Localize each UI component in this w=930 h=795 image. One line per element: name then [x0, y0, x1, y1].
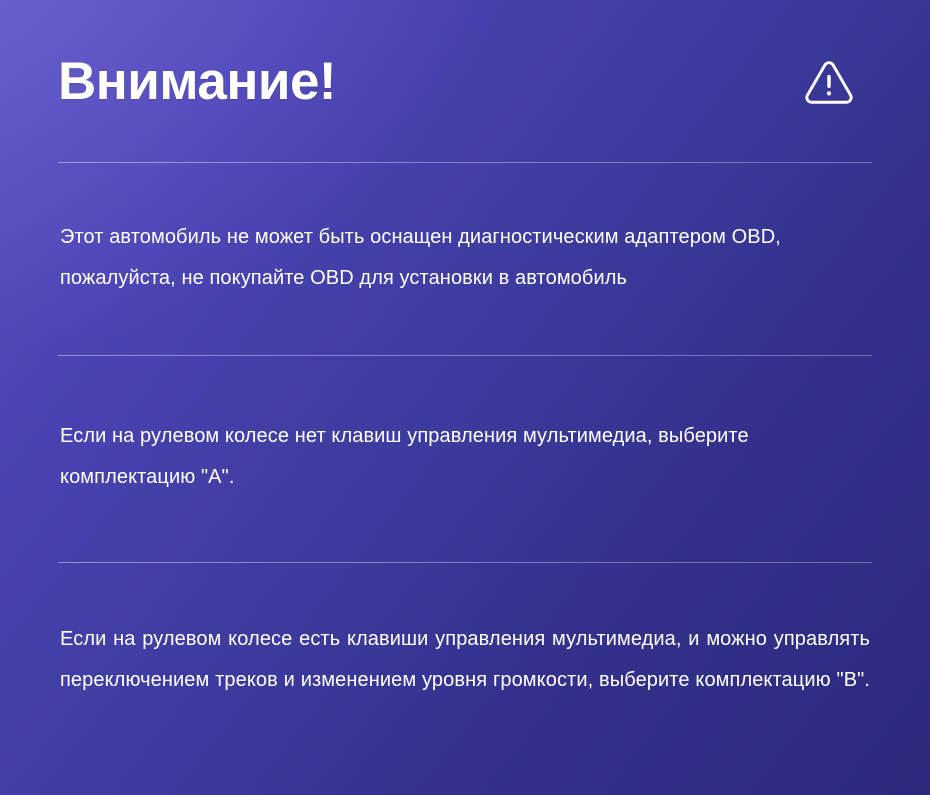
page-title: Внимание! [58, 55, 336, 108]
note-trim-b: Если на рулевом колесе есть клавиши упра… [58, 583, 872, 742]
card-header: Внимание! [58, 0, 872, 162]
divider-1 [58, 162, 872, 163]
note-trim-a: Если на рулевом колесе нет клавиш управл… [58, 376, 872, 542]
note-obd-not-supported: Этот автомобиль не может быть оснащен ди… [58, 183, 872, 335]
warning-notice-card: Внимание! Этот автомобиль не может быть … [0, 0, 930, 795]
warning-triangle-icon [802, 55, 856, 109]
divider-3 [58, 562, 872, 563]
divider-2 [58, 355, 872, 356]
